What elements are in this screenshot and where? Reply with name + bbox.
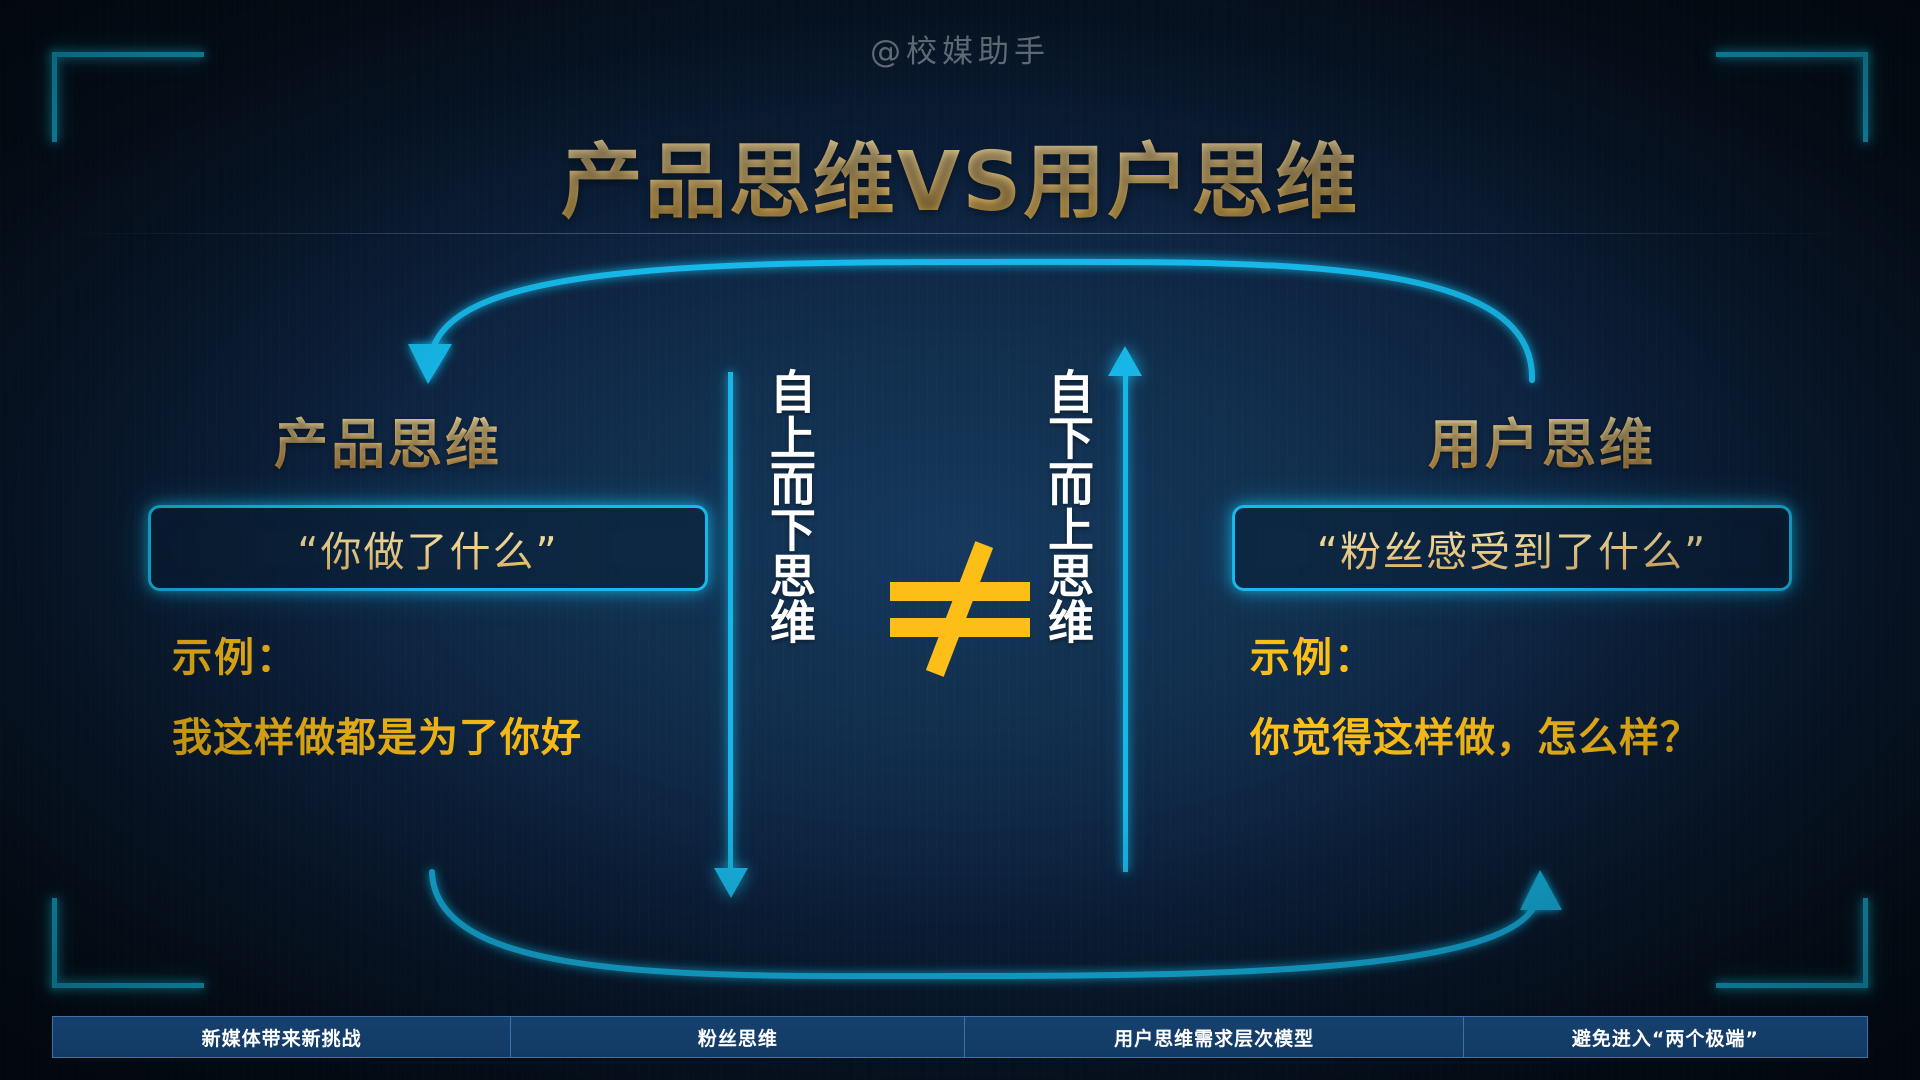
right-example-label: 示例： <box>1232 625 1792 683</box>
tab-user-need-hierarchy[interactable]: 用户思维需求层次模型 <box>965 1017 1463 1057</box>
left-heading: 产品思维 <box>148 400 708 479</box>
slide-canvas: @校媒助手 产品思维VS用户思维 产品思维 “你做了什么” 示例： 我这样做都是… <box>0 0 1920 1080</box>
arrow-down-icon <box>714 868 748 898</box>
title-divider <box>52 233 1868 234</box>
not-equal-icon <box>880 548 1040 668</box>
watermark-label: @校媒助手 <box>0 26 1920 71</box>
bottom-loop-arrowhead <box>1520 870 1562 910</box>
left-example-label: 示例： <box>148 625 708 683</box>
right-axis-text: 自下而上思维 <box>1032 368 1102 644</box>
page-title: 产品思维VS用户思维 <box>0 115 1920 234</box>
corner-bracket-bottom-left <box>52 898 204 988</box>
bottom-tab-bar: 新媒体带来新挑战 粉丝思维 用户思维需求层次模型 避免进入“两个极端” <box>52 1016 1868 1058</box>
left-quote-box: “你做了什么” <box>148 505 708 591</box>
corner-bracket-bottom-right <box>1716 898 1868 988</box>
right-quote-text: “粉丝感受到了什么” <box>1317 518 1707 578</box>
right-axis-line <box>1123 372 1128 872</box>
right-panel: 用户思维 “粉丝感受到了什么” 示例： 你觉得这样做，怎么样？ <box>1232 400 1792 763</box>
arrow-up-icon <box>1108 346 1142 376</box>
tab-avoid-extremes[interactable]: 避免进入“两个极端” <box>1464 1017 1867 1057</box>
tab-new-media-challenges[interactable]: 新媒体带来新挑战 <box>53 1017 511 1057</box>
left-axis-text: 自上而下思维 <box>754 368 824 644</box>
left-quote-text: “你做了什么” <box>297 518 558 578</box>
left-panel: 产品思维 “你做了什么” 示例： 我这样做都是为了你好 <box>148 400 708 763</box>
right-quote-box: “粉丝感受到了什么” <box>1232 505 1792 591</box>
left-example-text: 我这样做都是为了你好 <box>148 705 708 763</box>
top-loop-arrowhead <box>408 344 452 384</box>
top-loop-path <box>432 262 1532 380</box>
right-heading: 用户思维 <box>1232 400 1792 479</box>
tab-fan-thinking[interactable]: 粉丝思维 <box>511 1017 965 1057</box>
right-example-text: 你觉得这样做，怎么样？ <box>1232 705 1792 763</box>
left-axis-line <box>728 372 733 872</box>
bottom-loop-path <box>432 872 1536 976</box>
